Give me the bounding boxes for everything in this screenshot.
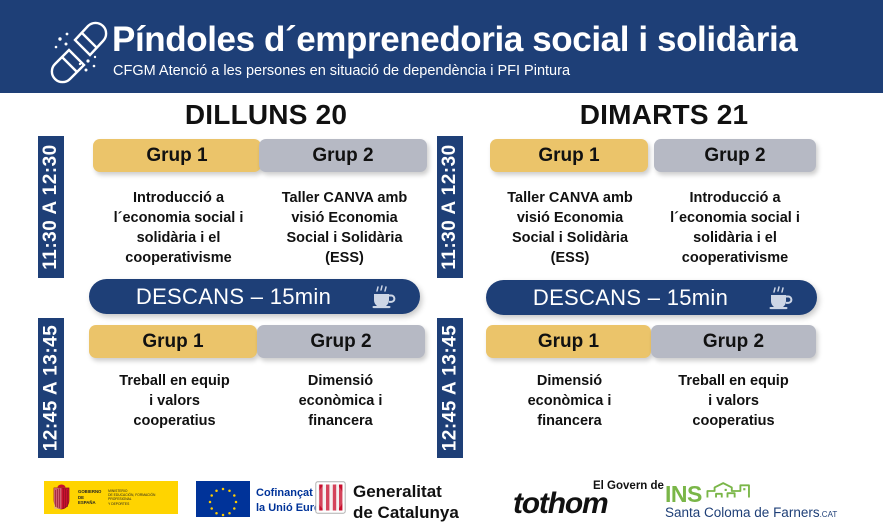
break-bar-dimarts: DESCANS – 15min — [486, 280, 817, 315]
badge-dilluns-slot2-grup1: Grup 1 — [89, 325, 257, 358]
break-bar-dilluns: DESCANS – 15min — [89, 279, 420, 314]
session-dilluns-slot2-grup2: Dimensió econòmica i financera — [258, 371, 423, 431]
ins-tld: .CAT — [820, 510, 838, 519]
badge-dimarts-slot2-grup1: Grup 1 — [486, 325, 651, 358]
gobierno-name: GOBIERNO DE ESPAÑA — [78, 489, 102, 506]
ins-subtitle: Santa Coloma de Farners.CAT — [665, 505, 837, 520]
generalitat-name: Generalitat de Catalunya — [353, 481, 459, 524]
badge-dimarts-slot2-grup2: Grup 2 — [651, 325, 816, 358]
poster-canvas: Píndoles d´emprenedoria social i solidàr… — [0, 0, 883, 526]
badge-dilluns-slot1-grup1: Grup 1 — [93, 139, 261, 172]
coffee-cup-icon — [767, 286, 793, 310]
ins-skyline-icon — [706, 478, 812, 504]
badge-dilluns-slot1-grup2: Grup 2 — [259, 139, 427, 172]
page-title: Píndoles d´emprenedoria social i solidàr… — [112, 20, 797, 60]
badge-dilluns-slot2-grup2: Grup 2 — [257, 325, 425, 358]
header-banner: Píndoles d´emprenedoria social i solidàr… — [0, 0, 883, 93]
ins-school-name: Santa Coloma de Farners — [665, 505, 820, 520]
session-dilluns-slot2-grup1: Treball en equip i valors cooperatius — [92, 371, 257, 431]
gobierno-logo-text: GOBIERNO DE ESPAÑA MINISTERIO DE EDUCACI… — [78, 489, 178, 506]
session-dimarts-slot1-grup2: Introducció a l´economia social i solidà… — [654, 188, 816, 268]
time-label-dimarts-slot2: 12:45 A 13:45 — [437, 318, 463, 458]
time-label-dilluns-slot2: 12:45 A 13:45 — [38, 318, 64, 458]
session-dilluns-slot1-grup2: Taller CANVA amb visió Economia Social i… — [262, 188, 427, 268]
session-dimarts-slot2-grup2: Treball en equip i valors cooperatius — [652, 371, 815, 431]
gobierno-de-espana-logo: GOBIERNO DE ESPAÑA MINISTERIO DE EDUCACI… — [44, 481, 178, 514]
ministerio-name: MINISTERIO DE EDUCACIÓN, FORMACIÓN PROFE… — [108, 489, 178, 506]
time-label-dilluns-slot1: 11:30 A 12:30 — [38, 136, 64, 278]
page-subtitle: CFGM Atenció a les persones en situació … — [113, 63, 570, 79]
session-dimarts-slot1-grup1: Taller CANVA amb visió Economia Social i… — [491, 188, 649, 268]
spanish-coat-of-arms-icon — [50, 484, 73, 511]
badge-dimarts-slot1-grup1: Grup 1 — [490, 139, 648, 172]
day-title-dilluns: DILLUNS 20 — [96, 99, 436, 131]
pill-capsule-icon — [42, 14, 114, 84]
ins-wordmark: INS — [665, 481, 702, 508]
coffee-cup-icon — [370, 285, 396, 309]
session-dimarts-slot2-grup1: Dimensió econòmica i financera — [488, 371, 651, 431]
tothom-wordmark: tothom — [513, 487, 607, 521]
badge-dimarts-slot1-grup2: Grup 2 — [654, 139, 816, 172]
session-dilluns-slot1-grup1: Introducció a l´economia social i solidà… — [96, 188, 261, 268]
european-union-flag-icon — [196, 481, 250, 517]
eu-stars-icon — [196, 481, 250, 517]
time-label-dimarts-slot1: 11:30 A 12:30 — [437, 136, 463, 278]
day-title-dimarts: DIMARTS 21 — [494, 99, 834, 131]
generalitat-senyera-icon — [315, 481, 346, 514]
